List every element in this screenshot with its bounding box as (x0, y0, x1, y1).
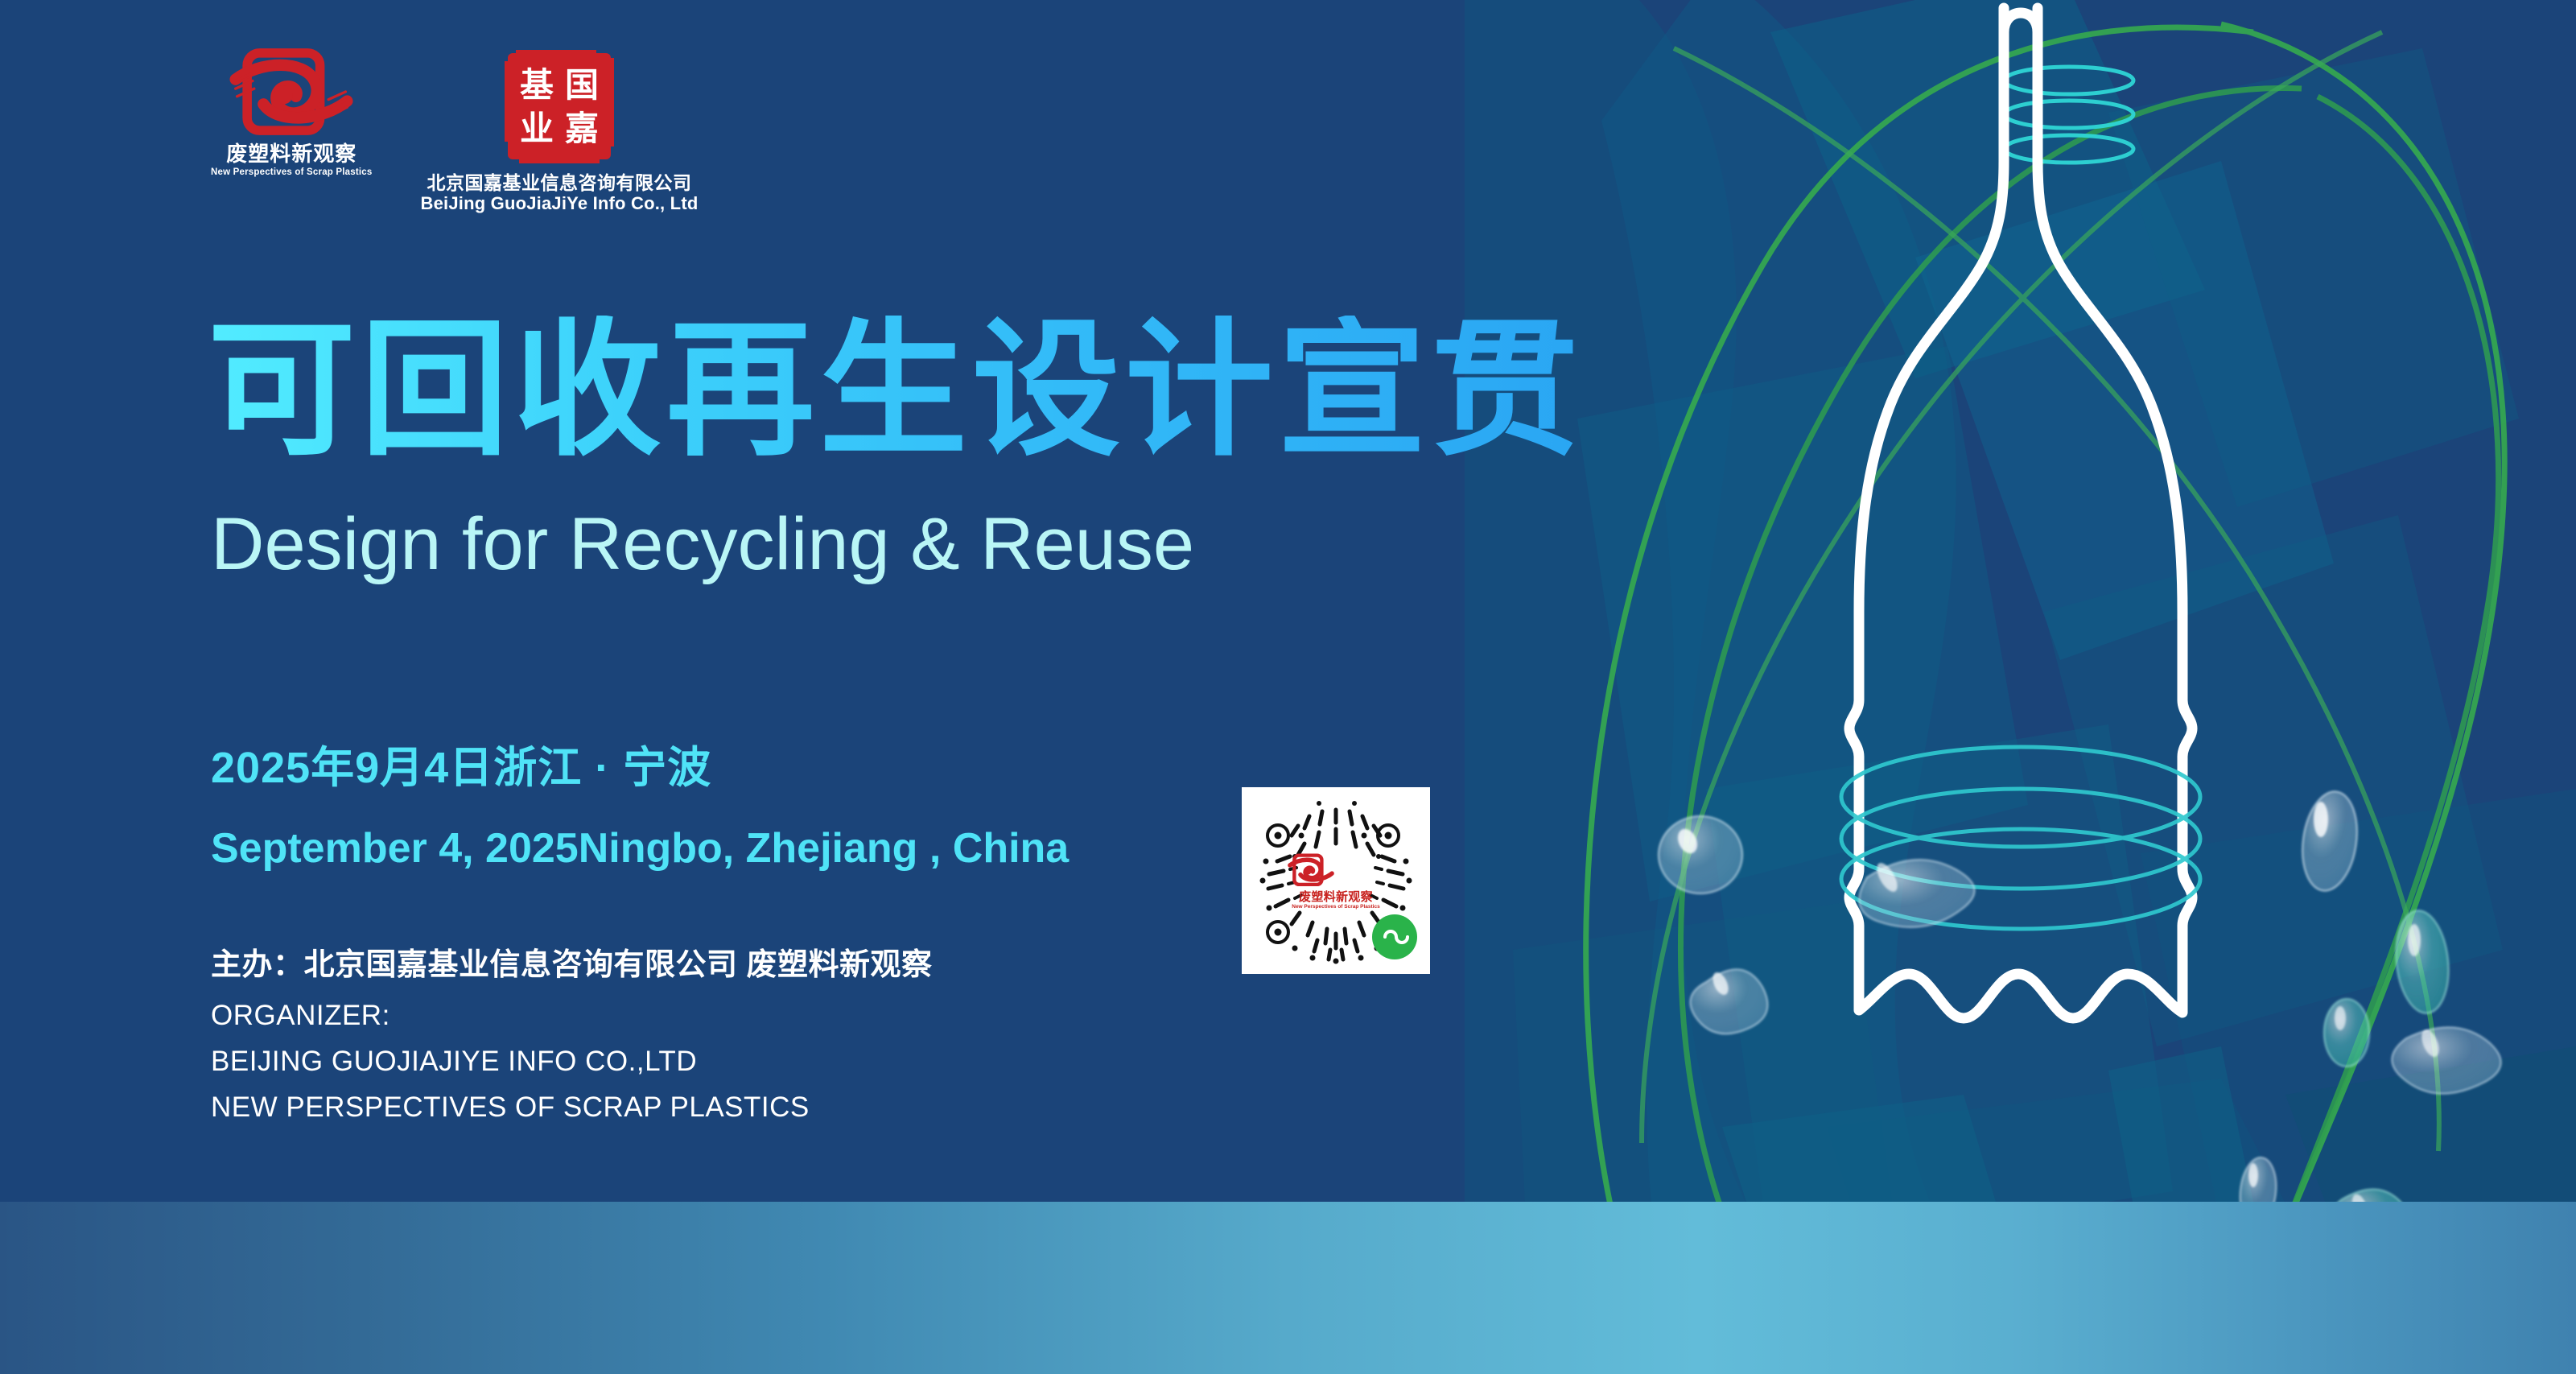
logo-scrap-plastics: 废塑料新观察 New Perspectives of Scrap Plastic… (211, 47, 372, 178)
logo-guojiajiye: 基 国 业 嘉 北京国嘉基业信息咨询有限公司 BeiJing GuoJiaJiY… (420, 47, 698, 212)
wechat-miniprogram-badge-icon (1372, 914, 1417, 959)
wechat-miniprogram-qr-code[interactable]: 废塑料新观察 New Perspectives of Scrap Plastic… (1242, 787, 1430, 974)
scrap-plastics-en-name: New Perspectives of Scrap Plastics (211, 168, 372, 178)
red-seal-stamp-icon: 基 国 业 嘉 (498, 47, 620, 167)
event-date-location-cn: 2025年9月4日浙江 · 宁波 (211, 746, 711, 790)
organizer-block: 主办：北京国嘉基业信息咨询有限公司 废塑料新观察 ORGANIZER: BEIJ… (211, 950, 933, 1121)
spiral-square-logo-icon (229, 47, 353, 137)
event-date-location-en: September 4, 2025Ningbo, Zhejiang , Chin… (211, 827, 1069, 869)
qr-center-spiral-logo-icon (1288, 852, 1334, 889)
poster-canvas: 废塑料新观察 New Perspectives of Scrap Plastic… (0, 0, 2576, 1374)
svg-text:业: 业 (520, 109, 554, 148)
guojiajiye-cn-name: 北京国嘉基业信息咨询有限公司 (427, 173, 691, 192)
page-title-cn: 可回收再生设计宣贯 (208, 316, 1584, 464)
organizer-media-en: NEW PERSPECTIVES OF SCRAP PLASTICS (211, 1093, 933, 1121)
qr-center-logo: 废塑料新观察 New Perspectives of Scrap Plastic… (1288, 852, 1384, 910)
bottom-gradient-strip (0, 1202, 2576, 1374)
qr-logo-en-text: New Perspectives of Scrap Plastics (1288, 905, 1384, 910)
logo-row: 废塑料新观察 New Perspectives of Scrap Plastic… (211, 47, 698, 212)
guojiajiye-en-name: BeiJing GuoJiaJiYe Info Co., Ltd (420, 194, 698, 212)
scrap-plastics-cn-name: 废塑料新观察 (226, 143, 357, 164)
organizer-company-en: BEIJING GUOJIAJIYE INFO CO.,LTD (211, 1047, 933, 1075)
page-title-en: Design for Recycling & Reuse (211, 507, 1194, 581)
svg-text:基: 基 (520, 65, 554, 105)
qr-logo-cn-text: 废塑料新观察 (1288, 891, 1384, 903)
organizer-label-en: ORGANIZER: (211, 1001, 933, 1029)
svg-text:国: 国 (565, 65, 599, 105)
organizer-line-cn: 主办：北京国嘉基业信息咨询有限公司 废塑料新观察 (211, 950, 933, 980)
svg-text:嘉: 嘉 (565, 109, 599, 148)
